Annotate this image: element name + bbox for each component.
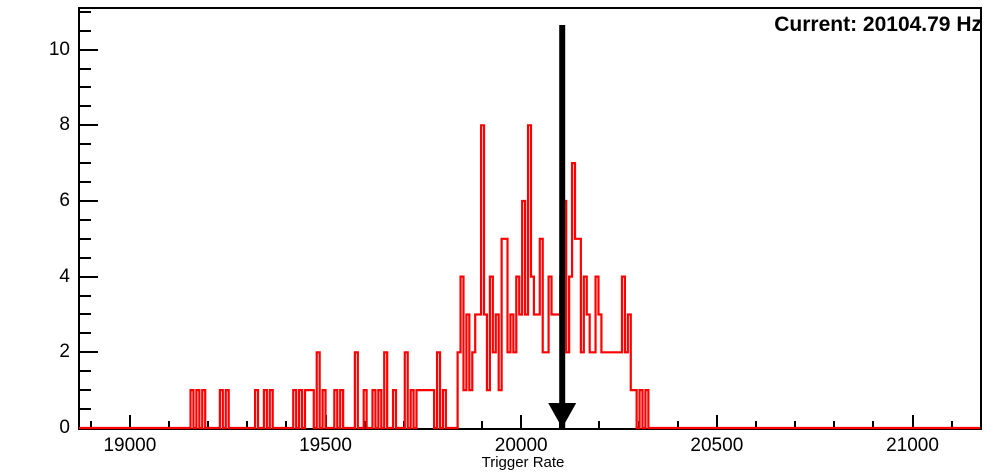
histogram-outline — [79, 125, 980, 428]
current-value-label: Current: 20104.79 Hz — [774, 13, 982, 37]
x-axis-title: Trigger Rate — [0, 455, 996, 470]
x-axis-title-text: Trigger Rate — [482, 454, 565, 471]
histogram-series — [0, 0, 996, 472]
root-histogram-canvas: 0246810 1900019500200002050021000 Curren… — [0, 0, 996, 472]
